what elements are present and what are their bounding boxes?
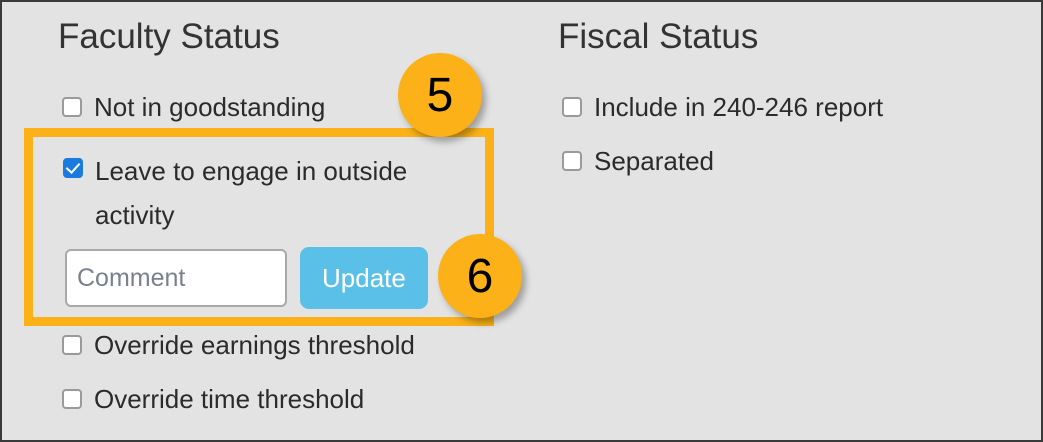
update-button[interactable]: Update	[300, 247, 428, 309]
checkbox-not-in-goodstanding[interactable]	[62, 97, 82, 117]
checkbox-include-in-240-246-report[interactable]	[562, 97, 582, 117]
fiscal-status-heading: Fiscal Status	[558, 16, 1008, 58]
annotation-badge-5: 5	[398, 53, 482, 137]
checkbox-row-leave-to-engage-in-outside-activity[interactable]: Leave to engage in outside activity	[63, 149, 463, 237]
faculty-status-heading: Faculty Status	[58, 16, 528, 58]
comment-input[interactable]	[65, 249, 287, 307]
checkbox-row-override-earnings-threshold[interactable]: Override earnings threshold	[62, 326, 415, 364]
highlight-callout-box: Leave to engage in outside activity Upda…	[24, 128, 494, 326]
checkbox-label-override-time-threshold: Override time threshold	[94, 380, 364, 418]
faculty-status-column: Faculty Status Not in goodstanding Overr…	[58, 16, 528, 58]
checkbox-row-separated[interactable]: Separated	[562, 142, 714, 180]
comment-update-row: Update	[65, 247, 428, 309]
checkbox-label-not-in-goodstanding: Not in goodstanding	[94, 88, 325, 126]
checkbox-row-not-in-goodstanding[interactable]: Not in goodstanding	[62, 88, 325, 126]
screenshot-root: Faculty Status Not in goodstanding Overr…	[0, 0, 1043, 442]
checkbox-row-include-in-240-246-report[interactable]: Include in 240-246 report	[562, 88, 883, 126]
checkbox-separated[interactable]	[562, 151, 582, 171]
checkbox-leave-to-engage-in-outside-activity[interactable]	[63, 158, 83, 178]
checkbox-row-override-time-threshold[interactable]: Override time threshold	[62, 380, 364, 418]
checkbox-label-leave-to-engage-in-outside-activity: Leave to engage in outside activity	[95, 149, 463, 237]
checkbox-label-override-earnings-threshold: Override earnings threshold	[94, 326, 415, 364]
checkbox-label-include-in-240-246-report: Include in 240-246 report	[594, 88, 883, 126]
fiscal-status-column: Fiscal Status Include in 240-246 report …	[558, 16, 1008, 58]
checkbox-label-separated: Separated	[594, 142, 714, 180]
checkbox-override-time-threshold[interactable]	[62, 389, 82, 409]
annotation-badge-6: 6	[438, 234, 522, 318]
checkbox-override-earnings-threshold[interactable]	[62, 335, 82, 355]
